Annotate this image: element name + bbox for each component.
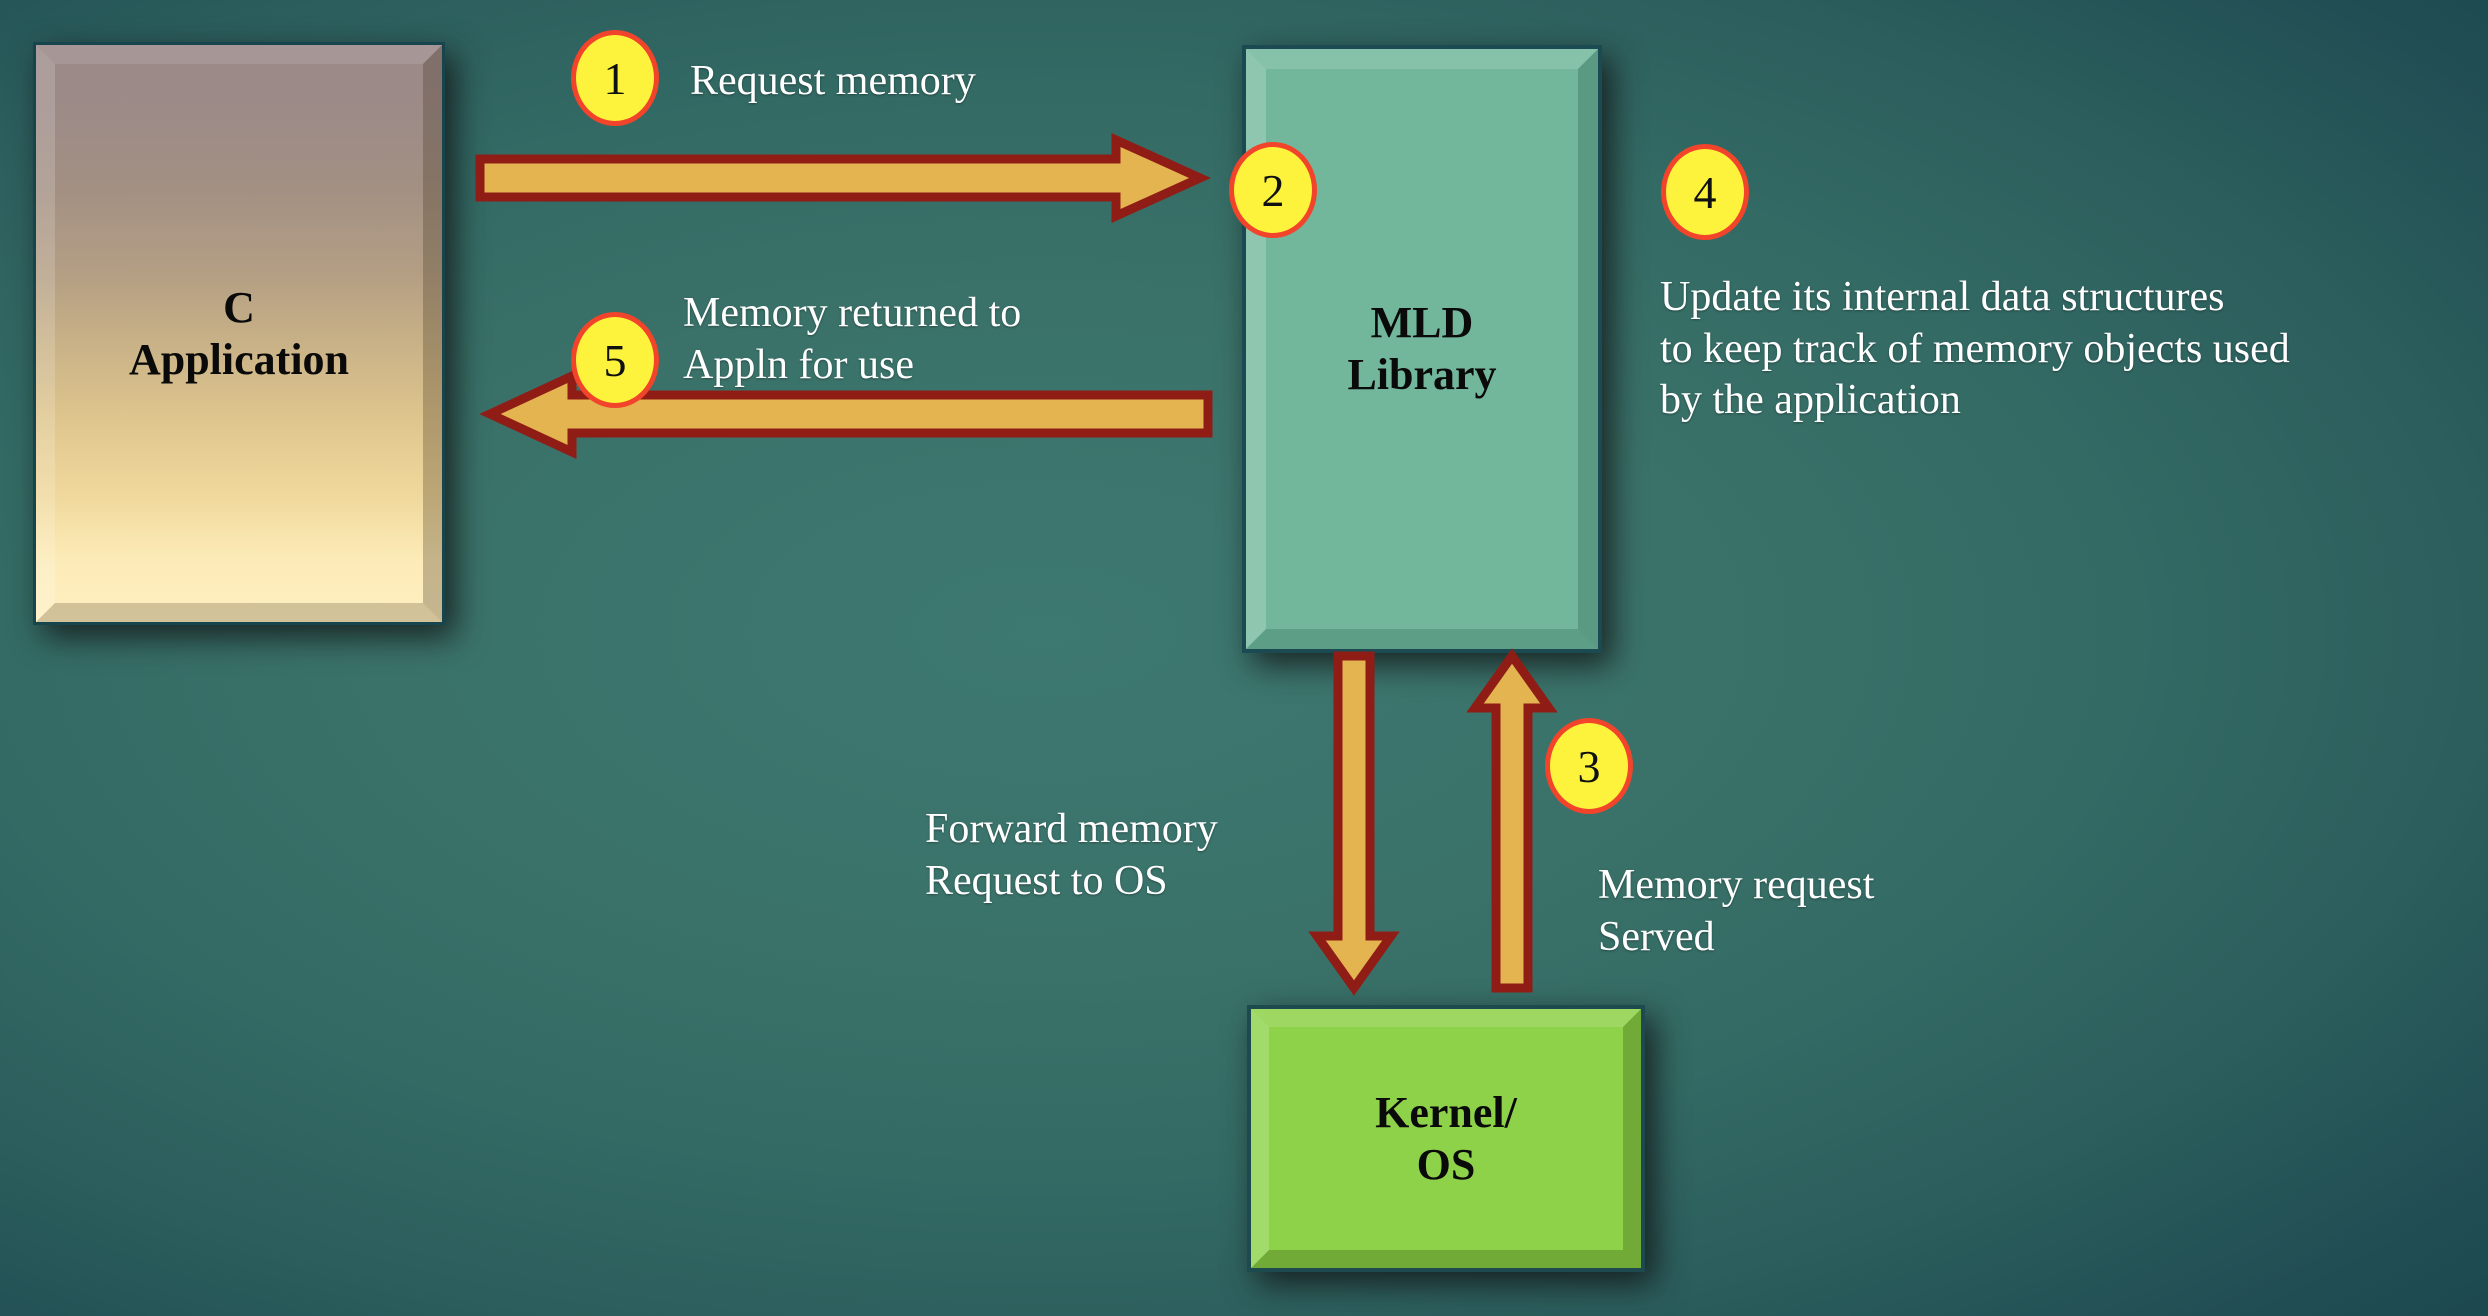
arrow-app-to-mld [476, 136, 1206, 220]
node-mld-library[interactable]: MLD Library [1242, 45, 1602, 653]
caption-step-5: Memory returned to Appln for use [683, 288, 1021, 391]
step-badge-4[interactable]: 4 [1661, 144, 1749, 240]
caption-step-1: Request memory [690, 56, 976, 108]
caption-step-4: Update its internal data structures to k… [1660, 272, 2290, 427]
caption-step-3: Memory request Served [1598, 860, 1874, 963]
arrow-mld-to-kernel [1307, 652, 1401, 992]
node-c-application-label: C Application [129, 282, 349, 386]
node-mld-library-label: MLD Library [1347, 297, 1496, 401]
step-badge-2[interactable]: 2 [1229, 142, 1317, 238]
diagram-canvas: C Application MLD Library Kernel/ OS 1 2 [0, 0, 2488, 1316]
step-badge-3[interactable]: 3 [1545, 718, 1633, 814]
node-kernel-os-label: Kernel/ OS [1375, 1087, 1517, 1191]
arrow-kernel-to-mld [1465, 652, 1559, 992]
caption-step-2: Forward memory Request to OS [925, 804, 1218, 907]
node-kernel-os[interactable]: Kernel/ OS [1247, 1005, 1645, 1272]
step-badge-5[interactable]: 5 [571, 312, 659, 408]
step-badge-1[interactable]: 1 [571, 30, 659, 126]
node-c-application[interactable]: C Application [33, 42, 445, 625]
